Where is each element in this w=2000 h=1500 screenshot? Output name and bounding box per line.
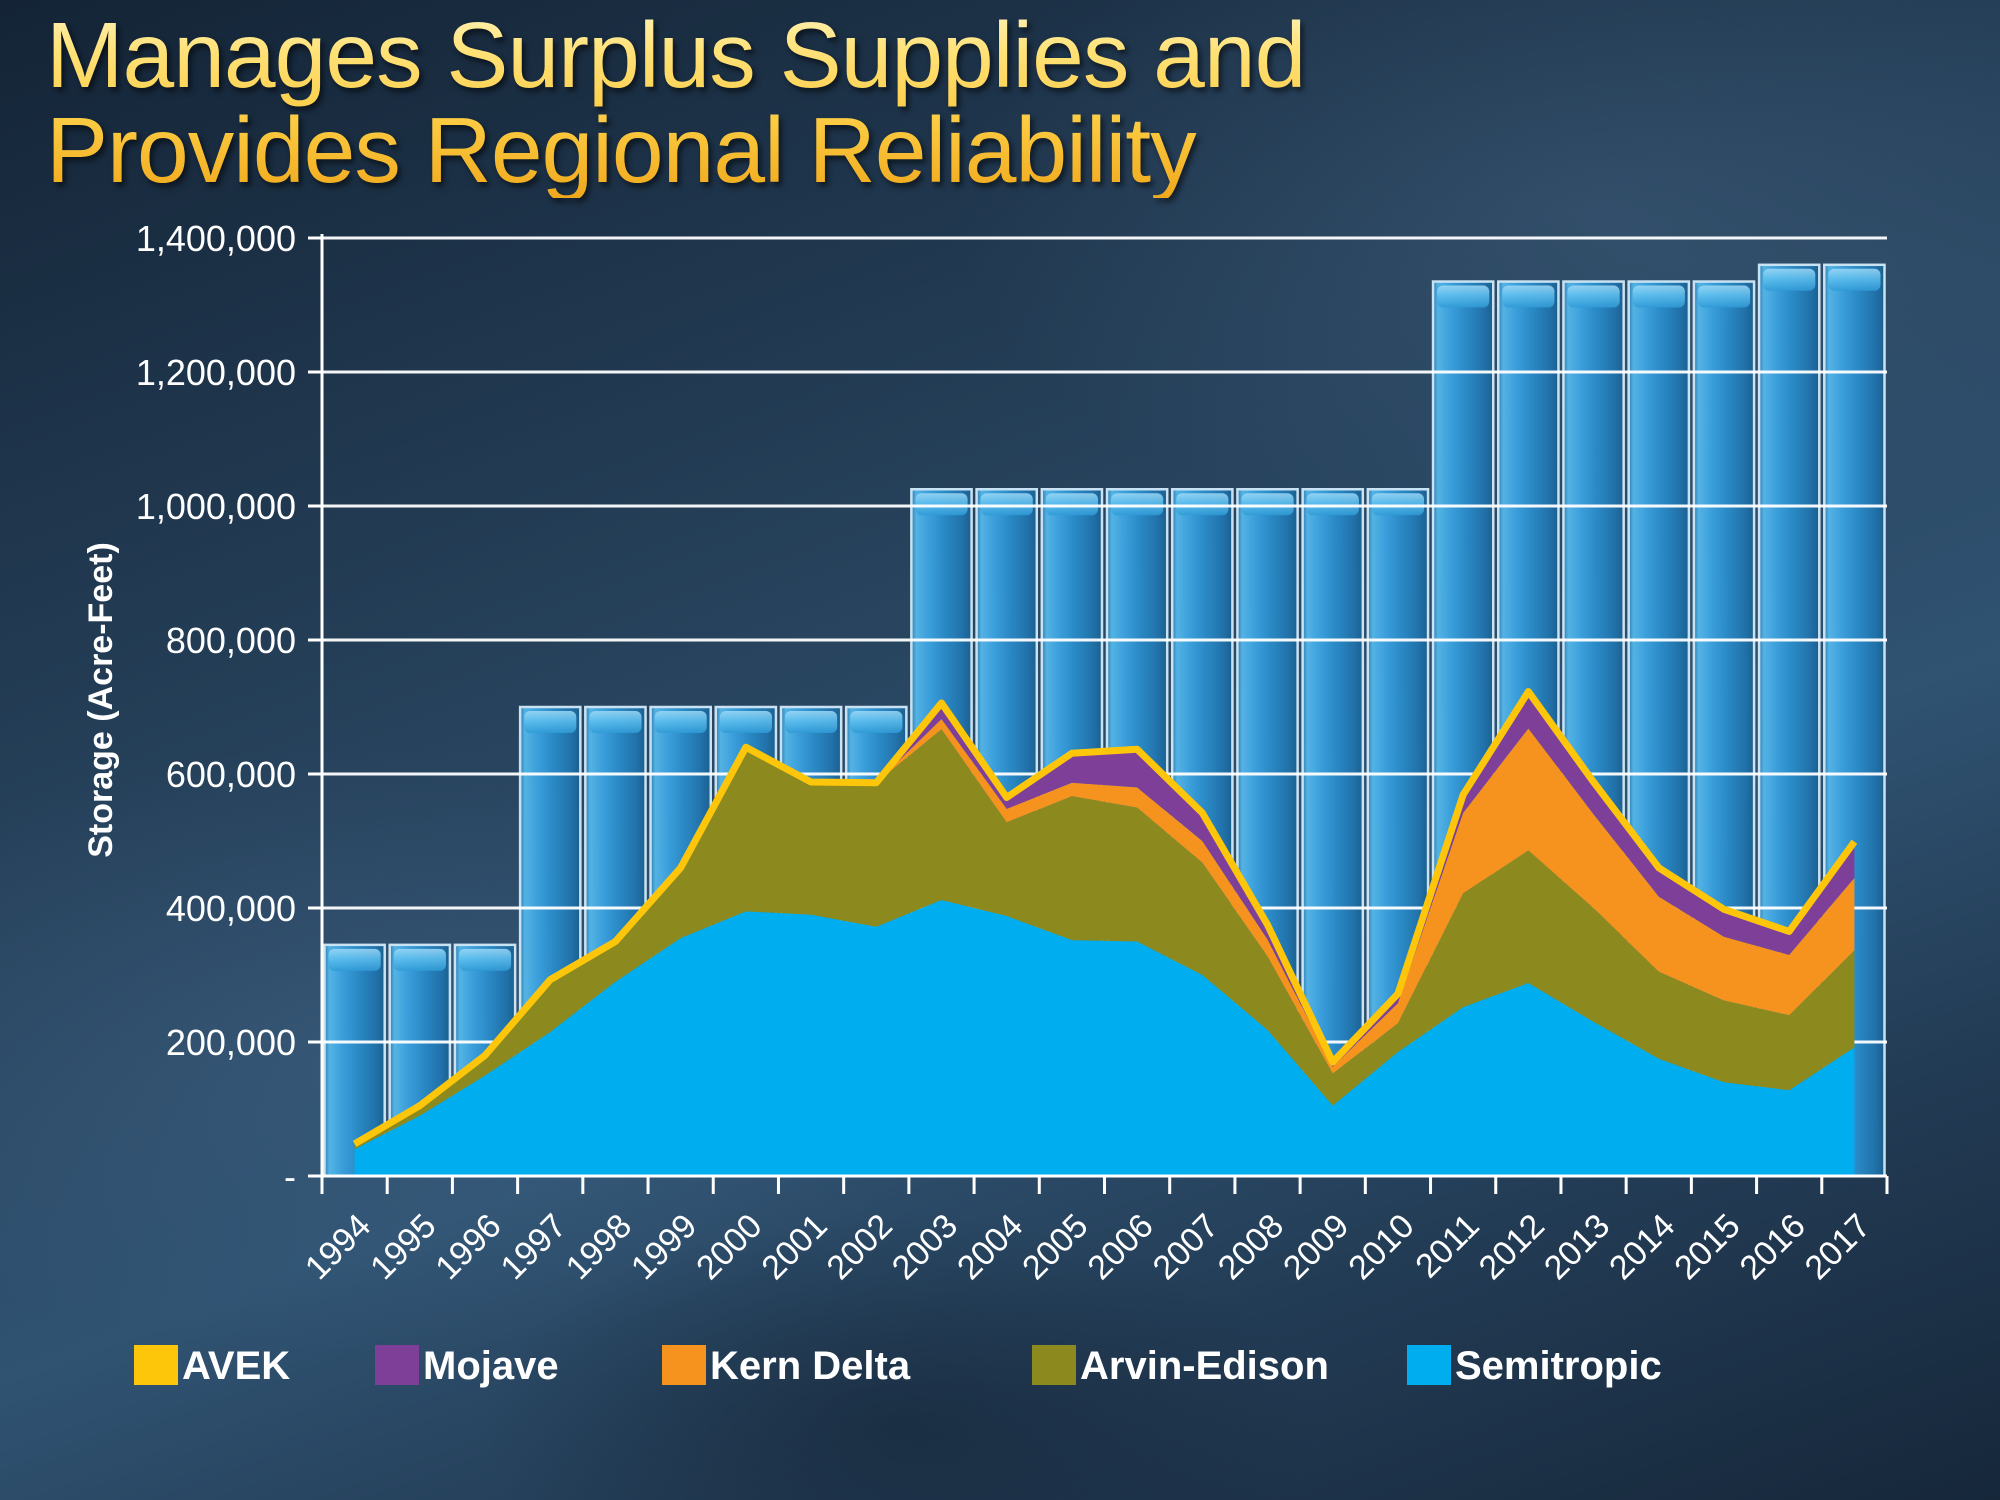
capacity-bar-highlight bbox=[655, 711, 707, 733]
y-axis-labels: -200,000400,000600,000800,0001,000,0001,… bbox=[136, 218, 296, 1197]
x-axis-tick-label: 2008 bbox=[1211, 1207, 1291, 1287]
legend-label-semitropic: Semitropic bbox=[1455, 1344, 1662, 1388]
y-axis-tick-label: - bbox=[284, 1156, 296, 1197]
x-axis-tick-label: 2002 bbox=[820, 1207, 900, 1287]
x-axis-tick-label: 2013 bbox=[1537, 1207, 1617, 1287]
legend-label-mojave: Mojave bbox=[423, 1344, 559, 1388]
x-axis-tick-label: 2017 bbox=[1798, 1207, 1878, 1287]
x-axis-tick-label: 2010 bbox=[1341, 1207, 1421, 1287]
x-axis-tick-label: 2005 bbox=[1015, 1207, 1095, 1287]
x-axis-tick-label: 2004 bbox=[950, 1207, 1030, 1287]
x-axis-tick-label: 2014 bbox=[1602, 1207, 1682, 1287]
x-axis-tick-label: 2009 bbox=[1276, 1207, 1356, 1287]
chart-svg: -200,000400,000600,000800,0001,000,0001,… bbox=[0, 0, 2000, 1500]
y-axis-tick-label: 1,000,000 bbox=[136, 486, 296, 527]
x-axis-tick-label: 1994 bbox=[298, 1207, 378, 1287]
capacity-bar-highlight bbox=[1307, 493, 1359, 515]
capacity-bar-highlight bbox=[1502, 286, 1554, 308]
y-axis-tick-label: 1,400,000 bbox=[136, 218, 296, 259]
legend-label-avek: AVEK bbox=[182, 1344, 290, 1388]
capacity-bar-highlight bbox=[1111, 493, 1163, 515]
capacity-bar-highlight bbox=[1698, 286, 1750, 308]
x-axis-tick-label: 1997 bbox=[494, 1207, 574, 1287]
x-axis-tick-label: 2007 bbox=[1146, 1207, 1226, 1287]
y-axis-title: Storage (Acre-Feet) bbox=[82, 542, 120, 858]
y-axis-tick-label: 600,000 bbox=[166, 754, 296, 795]
capacity-bar-highlight bbox=[720, 711, 772, 733]
capacity-bar-highlight bbox=[1828, 269, 1880, 291]
capacity-bar-highlight bbox=[1372, 493, 1424, 515]
x-axis-tick-label: 2011 bbox=[1408, 1207, 1487, 1286]
capacity-bar-highlight bbox=[915, 493, 967, 515]
x-axis-tick-label: 1995 bbox=[363, 1207, 443, 1287]
x-axis-tick-label: 2006 bbox=[1080, 1207, 1160, 1287]
capacity-bar-highlight bbox=[1176, 493, 1228, 515]
chart-legend: AVEKMojaveKern DeltaArvin-EdisonSemitrop… bbox=[134, 1344, 1662, 1388]
capacity-bar-highlight bbox=[1633, 286, 1685, 308]
x-axis-tick-label: 2000 bbox=[689, 1207, 769, 1287]
legend-label-kern-delta: Kern Delta bbox=[710, 1344, 911, 1388]
y-axis-tick-label: 200,000 bbox=[166, 1022, 296, 1063]
x-axis-tick-label: 1998 bbox=[559, 1207, 639, 1287]
capacity-bar-highlight bbox=[1437, 286, 1489, 308]
x-axis-tick-label: 2015 bbox=[1667, 1207, 1747, 1287]
capacity-bar-highlight bbox=[524, 711, 576, 733]
x-axis-tick-label: 2003 bbox=[885, 1207, 965, 1287]
x-axis-tick-label: 2001 bbox=[754, 1207, 834, 1287]
x-axis-tick-label: 2016 bbox=[1732, 1207, 1812, 1287]
capacity-bar-highlight bbox=[394, 949, 446, 971]
legend-label-arvin-edison: Arvin-Edison bbox=[1080, 1344, 1329, 1388]
capacity-bar-highlight bbox=[850, 711, 902, 733]
y-axis-tick-label: 1,200,000 bbox=[136, 352, 296, 393]
x-axis-tick-label: 1996 bbox=[428, 1207, 508, 1287]
capacity-bar-highlight bbox=[785, 711, 837, 733]
capacity-bar-highlight bbox=[1567, 286, 1619, 308]
x-axis-tick-label: 1999 bbox=[624, 1207, 704, 1287]
y-axis-tick-label: 800,000 bbox=[166, 620, 296, 661]
capacity-bar-highlight bbox=[981, 493, 1033, 515]
capacity-bar-highlight bbox=[1046, 493, 1098, 515]
y-axis-tick-label: 400,000 bbox=[166, 888, 296, 929]
legend-swatch-arvin-edison bbox=[1032, 1345, 1076, 1385]
storage-area-chart: -200,000400,000600,000800,0001,000,0001,… bbox=[0, 0, 2000, 1500]
x-axis-tick-label: 2012 bbox=[1472, 1207, 1552, 1287]
capacity-bar-highlight bbox=[329, 949, 381, 971]
legend-swatch-semitropic bbox=[1407, 1345, 1451, 1385]
legend-swatch-mojave bbox=[375, 1345, 419, 1385]
capacity-bar-highlight bbox=[1241, 493, 1293, 515]
capacity-bar-highlight bbox=[1763, 269, 1815, 291]
legend-swatch-kern-delta bbox=[662, 1345, 706, 1385]
legend-swatch-avek bbox=[134, 1345, 178, 1385]
x-axis-labels: 1994199519961997199819992000200120022003… bbox=[298, 1207, 1878, 1287]
capacity-bar-highlight bbox=[589, 711, 641, 733]
capacity-bar-highlight bbox=[459, 949, 511, 971]
